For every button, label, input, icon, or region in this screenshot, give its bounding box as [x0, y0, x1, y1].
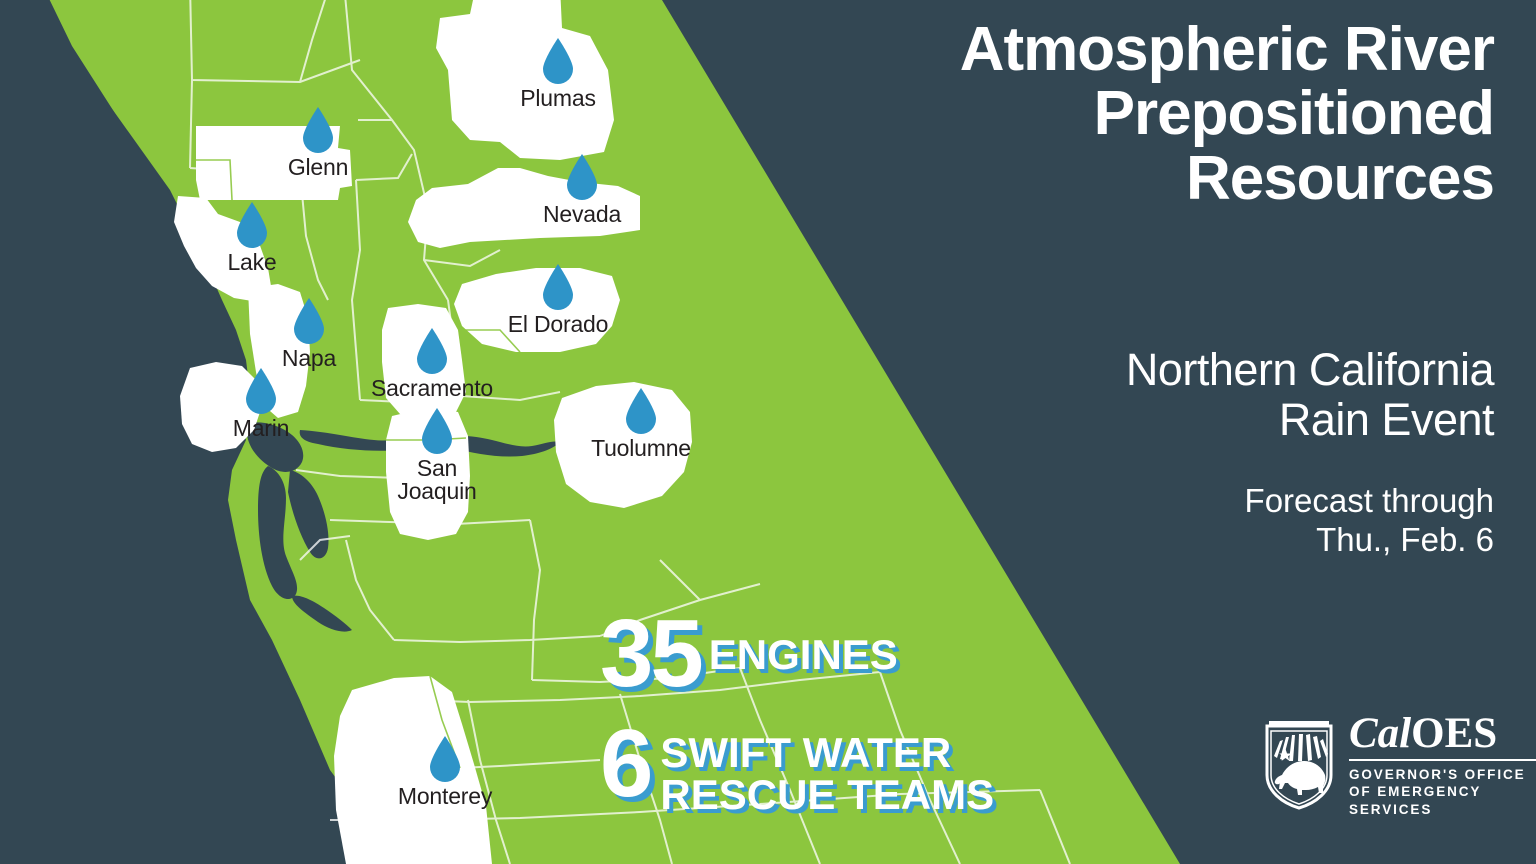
- subtitle-line-2: Rain Event: [794, 395, 1494, 445]
- county-marker-tuolumne[interactable]: Tuolumne: [566, 386, 716, 460]
- water-droplet-icon: [623, 386, 659, 436]
- county-marker-sacramento[interactable]: Sacramento: [342, 326, 522, 400]
- water-droplet-icon: [419, 406, 455, 456]
- county-label: Tuolumne: [591, 437, 691, 460]
- county-label: San Joaquin: [397, 457, 476, 504]
- county-label: El Dorado: [508, 313, 608, 336]
- county-marker-marin[interactable]: Marin: [201, 366, 321, 440]
- page-title: Atmospheric River Prepositioned Resource…: [694, 18, 1494, 211]
- stat-swift-water-label: SWIFT WATER RESCUE TEAMS: [660, 732, 994, 816]
- water-droplet-icon: [414, 326, 450, 376]
- resource-stats: 35 ENGINES 6 SWIFT WATER RESCUE TEAMS: [600, 612, 994, 816]
- water-droplet-icon: [427, 734, 463, 784]
- stat-swift-water-number: 6: [600, 722, 650, 806]
- county-label: Glenn: [288, 156, 348, 179]
- water-droplet-icon: [540, 36, 576, 86]
- forecast-note: Forecast through Thu., Feb. 6: [874, 482, 1494, 560]
- subtitle-line-1: Northern California: [794, 345, 1494, 395]
- forecast-line-1: Forecast through: [874, 482, 1494, 521]
- title-line-2: Prepositioned: [694, 82, 1494, 146]
- county-marker-lake[interactable]: Lake: [192, 200, 312, 274]
- county-label: Monterey: [398, 785, 492, 808]
- cal-oes-logo: CalOES GOVERNOR'S OFFICE OF EMERGENCY SE…: [1262, 712, 1536, 818]
- county-marker-san-joaquin[interactable]: San Joaquin: [382, 406, 492, 504]
- county-marker-glenn[interactable]: Glenn: [253, 105, 383, 179]
- logo-divider: [1349, 759, 1536, 761]
- logo-tagline-line-1: GOVERNOR'S OFFICE: [1349, 766, 1536, 783]
- logo-tagline-line-2: OF EMERGENCY SERVICES: [1349, 783, 1536, 818]
- water-droplet-icon: [243, 366, 279, 416]
- stat-engines-number: 35: [600, 612, 701, 696]
- logo-wordmark: CalOES: [1349, 712, 1536, 755]
- forecast-line-2: Thu., Feb. 6: [874, 521, 1494, 560]
- water-droplet-icon: [300, 105, 336, 155]
- county-marker-plumas[interactable]: Plumas: [478, 36, 638, 110]
- logo-text-block: CalOES GOVERNOR'S OFFICE OF EMERGENCY SE…: [1349, 712, 1536, 818]
- county-label: Sacramento: [371, 377, 493, 400]
- county-label: Nevada: [543, 203, 621, 226]
- county-marker-nevada[interactable]: Nevada: [512, 152, 652, 226]
- stat-swift-water-rescue-teams: 6 SWIFT WATER RESCUE TEAMS: [600, 722, 994, 816]
- logo-word-cal: Cal: [1349, 710, 1411, 757]
- stat-engines-label: ENGINES: [709, 634, 898, 676]
- page-subtitle: Northern California Rain Event: [794, 345, 1494, 446]
- title-line-3: Resources: [694, 147, 1494, 211]
- county-label: Plumas: [520, 87, 596, 110]
- county-label: Marin: [233, 417, 290, 440]
- water-droplet-icon: [234, 200, 270, 250]
- stat-engines: 35 ENGINES: [600, 612, 994, 696]
- water-droplet-icon: [291, 296, 327, 346]
- water-droplet-icon: [540, 262, 576, 312]
- infographic-canvas: Plumas Glenn Nevada Lake El Dorado: [0, 0, 1536, 864]
- title-line-1: Atmospheric River: [694, 18, 1494, 82]
- county-label: Lake: [227, 251, 276, 274]
- bear-shield-icon: [1262, 719, 1336, 811]
- logo-word-oes: OES: [1411, 710, 1497, 757]
- county-marker-monterey[interactable]: Monterey: [370, 734, 520, 808]
- water-droplet-icon: [564, 152, 600, 202]
